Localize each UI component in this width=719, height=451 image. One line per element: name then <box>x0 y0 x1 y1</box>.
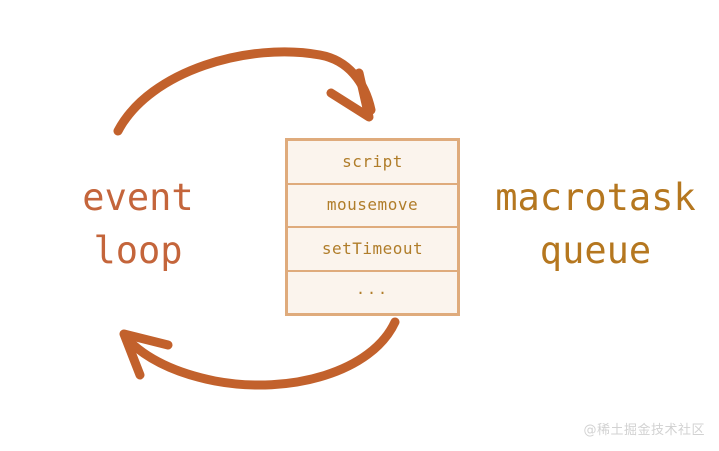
queue-row-label: ... <box>356 282 389 297</box>
diagram-canvas: event loop script mousemove setTimeout .… <box>0 0 719 451</box>
queue-row-label: mousemove <box>327 197 418 213</box>
bottom-arrow-out-of-queue <box>124 322 395 385</box>
queue-row[interactable]: mousemove <box>288 185 457 229</box>
queue-row[interactable]: ... <box>288 272 457 314</box>
macrotask-queue-label: macrotask queue <box>478 172 713 277</box>
macrotask-queue-box: script mousemove setTimeout ... <box>285 138 460 316</box>
queue-row-label: script <box>342 154 403 170</box>
watermark: @稀土掘金技术社区 <box>583 419 705 438</box>
queue-row[interactable]: script <box>288 141 457 185</box>
queue-row[interactable]: setTimeout <box>288 228 457 272</box>
queue-row-label: setTimeout <box>322 241 423 257</box>
event-loop-label: event loop <box>28 172 248 277</box>
top-arrow-into-queue <box>118 52 371 131</box>
